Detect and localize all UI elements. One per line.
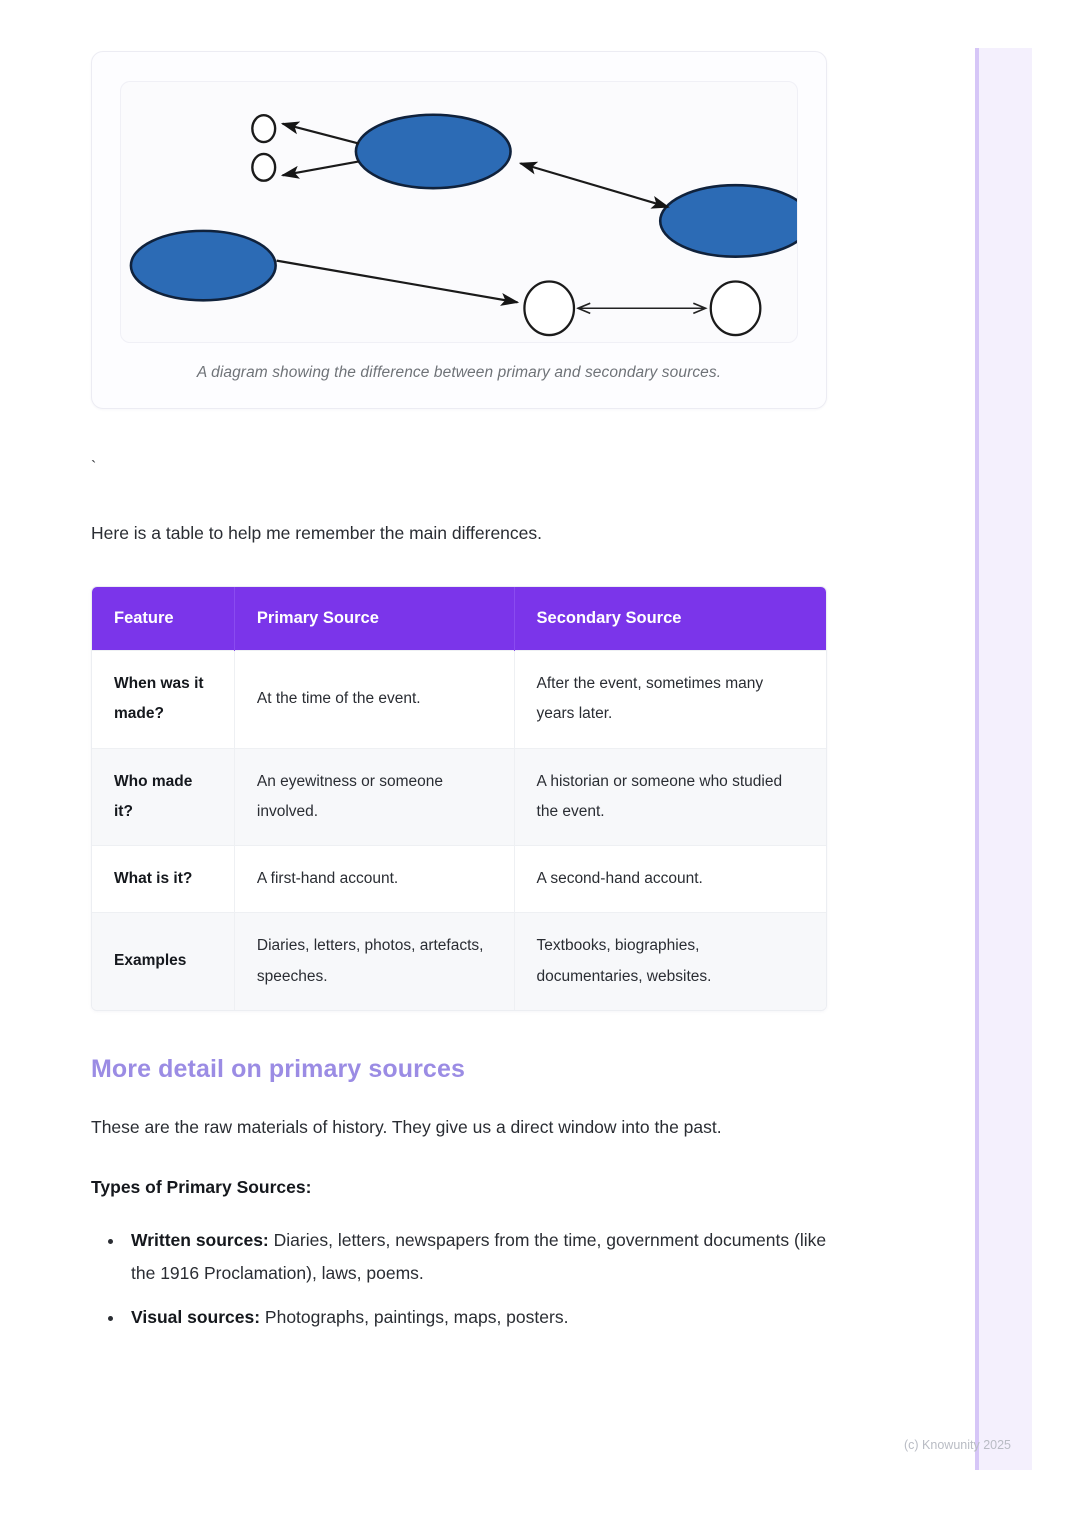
list-item-label: Written sources: (131, 1230, 269, 1250)
cell-primary: Diaries, letters, photos, artefacts, spe… (234, 913, 514, 1010)
copyright-watermark: (c) Knowunity 2025 (904, 1438, 1011, 1452)
arrow-to-small-circle-top (283, 124, 359, 144)
col-header-feature: Feature (92, 587, 234, 651)
arrow-top-center-to-right-ellipse (520, 163, 668, 207)
list-item: Written sources: Diaries, letters, newsp… (125, 1224, 827, 1290)
table-row: What is it? A first-hand account. A seco… (92, 846, 826, 913)
section-paragraph: These are the raw materials of history. … (91, 1110, 827, 1144)
right-side-panel (975, 48, 1032, 1470)
cell-primary: A first-hand account. (234, 846, 514, 913)
primary-secondary-sources-diagram (121, 82, 797, 342)
blue-ellipse-top-center (356, 115, 511, 188)
diagram-container (120, 81, 798, 343)
large-circle-bottom-left (524, 281, 574, 335)
table-body: When was it made? At the time of the eve… (92, 651, 826, 1010)
document-content: A diagram showing the difference between… (91, 0, 827, 1345)
cell-feature: What is it? (92, 846, 234, 913)
cell-secondary: A second-hand account. (514, 846, 826, 913)
cell-secondary: Textbooks, biographies, documentaries, w… (514, 913, 826, 1010)
cell-secondary: A historian or someone who studied the e… (514, 748, 826, 845)
col-header-secondary-source: Secondary Source (514, 587, 826, 651)
section-heading: More detail on primary sources (91, 1055, 827, 1084)
small-circle-second (252, 154, 275, 181)
stray-backtick-text: ` (91, 458, 827, 478)
primary-sources-list: Written sources: Diaries, letters, newsp… (91, 1224, 827, 1334)
figure-card: A diagram showing the difference between… (91, 51, 827, 409)
large-circle-bottom-right (711, 281, 761, 335)
table-row: When was it made? At the time of the eve… (92, 651, 826, 748)
arrow-to-small-circle-second (283, 161, 359, 175)
cell-primary: An eyewitness or someone involved. (234, 748, 514, 845)
right-side-panel-accent-line (975, 48, 979, 1470)
cell-primary: At the time of the event. (234, 651, 514, 748)
table-row: Examples Diaries, letters, photos, artef… (92, 913, 826, 1010)
col-header-primary-source: Primary Source (234, 587, 514, 651)
cell-feature: Examples (92, 913, 234, 1010)
blue-ellipse-lower-left (131, 231, 276, 300)
list-item-label: Visual sources: (131, 1307, 260, 1327)
list-item-text: Photographs, paintings, maps, posters. (265, 1307, 569, 1327)
list-item: Visual sources: Photographs, paintings, … (125, 1301, 827, 1334)
comparison-table-container: Feature Primary Source Secondary Source … (91, 586, 827, 1011)
intro-paragraph: Here is a table to help me remember the … (91, 520, 827, 546)
table-row: Who made it? An eyewitness or someone in… (92, 748, 826, 845)
table-header-row: Feature Primary Source Secondary Source (92, 587, 826, 651)
small-circle-top (252, 115, 275, 142)
cell-secondary: After the event, sometimes many years la… (514, 651, 826, 748)
table-head: Feature Primary Source Secondary Source (92, 587, 826, 651)
section-subheading: Types of Primary Sources: (91, 1174, 827, 1200)
arrow-lower-left-to-bottom-circle (277, 261, 518, 303)
cell-feature: When was it made? (92, 651, 234, 748)
blue-ellipse-right (660, 185, 797, 256)
comparison-table: Feature Primary Source Secondary Source … (92, 587, 826, 1010)
figure-caption: A diagram showing the difference between… (120, 364, 798, 382)
cell-feature: Who made it? (92, 748, 234, 845)
